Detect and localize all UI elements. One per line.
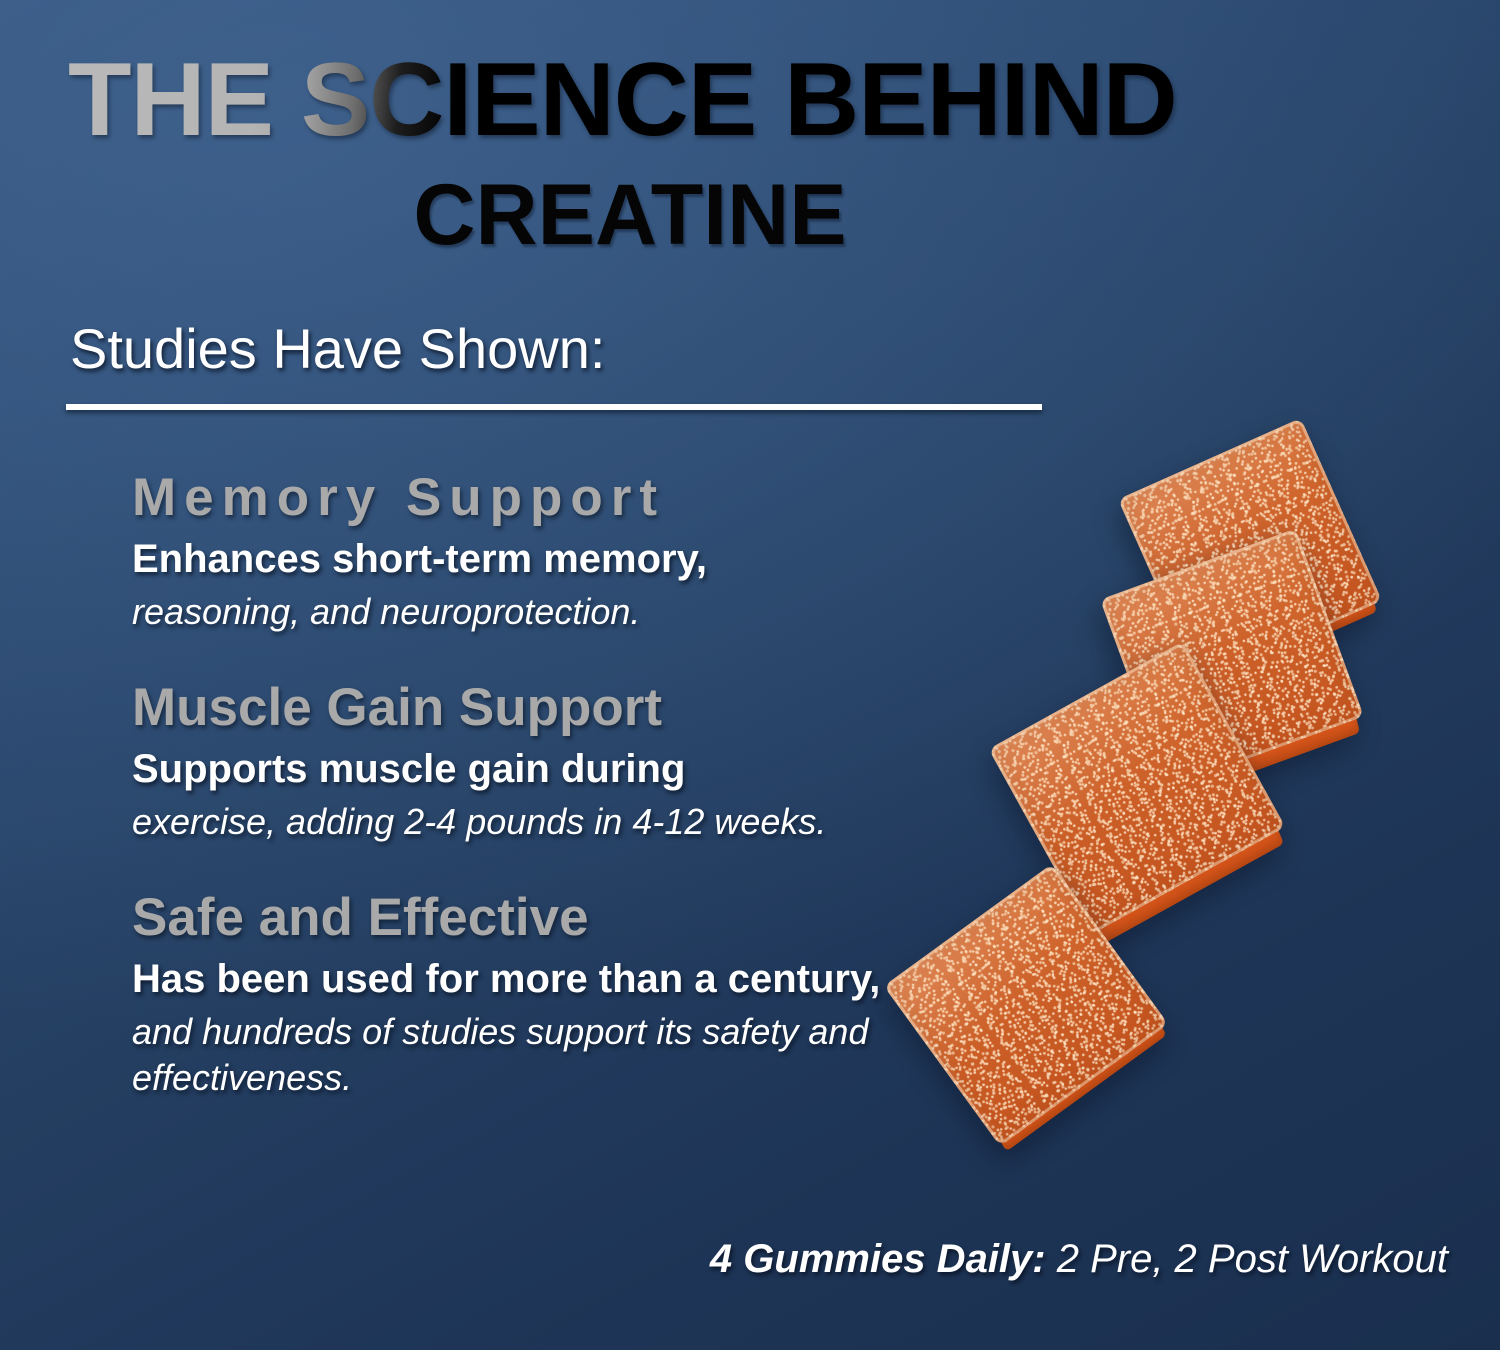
title-line-2: CREATINE xyxy=(0,172,1500,258)
benefit-heading: Muscle Gain Support xyxy=(132,680,892,736)
benefit-item-muscle-gain-support: Muscle Gain Support Supports muscle gain… xyxy=(132,680,892,846)
benefit-secondary-text: reasoning, and neuroprotection. xyxy=(132,589,892,636)
benefit-item-safe-and-effective: Safe and Effective Has been used for mor… xyxy=(132,890,892,1103)
benefit-heading: Memory Support xyxy=(132,470,892,526)
title-line-1: THE SCIENCE BEHIND xyxy=(68,48,1177,152)
dosage-label: 4 Gummies Daily: xyxy=(710,1237,1046,1281)
benefit-primary-text: Enhances short-term memory, xyxy=(132,535,892,584)
subheading-studies-have-shown: Studies Have Shown: xyxy=(70,316,605,381)
benefit-heading: Safe and Effective xyxy=(132,890,892,946)
benefits-list: Memory Support Enhances short-term memor… xyxy=(132,470,892,1102)
benefit-secondary-text: and hundreds of studies support its safe… xyxy=(132,1009,892,1103)
infographic-panel: THE SCIENCE BEHIND CREATINE Studies Have… xyxy=(0,0,1500,1350)
benefit-item-memory-support: Memory Support Enhances short-term memor… xyxy=(132,470,892,636)
benefit-primary-text: Supports muscle gain during xyxy=(132,745,892,794)
dosage-footer: 4 Gummies Daily: 2 Pre, 2 Post Workout xyxy=(710,1237,1448,1282)
benefit-primary-text: Has been used for more than a century, xyxy=(132,955,892,1004)
dosage-detail: 2 Pre, 2 Post Workout xyxy=(1046,1237,1448,1281)
benefit-secondary-text: exercise, adding 2-4 pounds in 4-12 week… xyxy=(132,799,892,846)
horizontal-divider xyxy=(66,404,1042,410)
product-image-gummies xyxy=(900,430,1420,1170)
